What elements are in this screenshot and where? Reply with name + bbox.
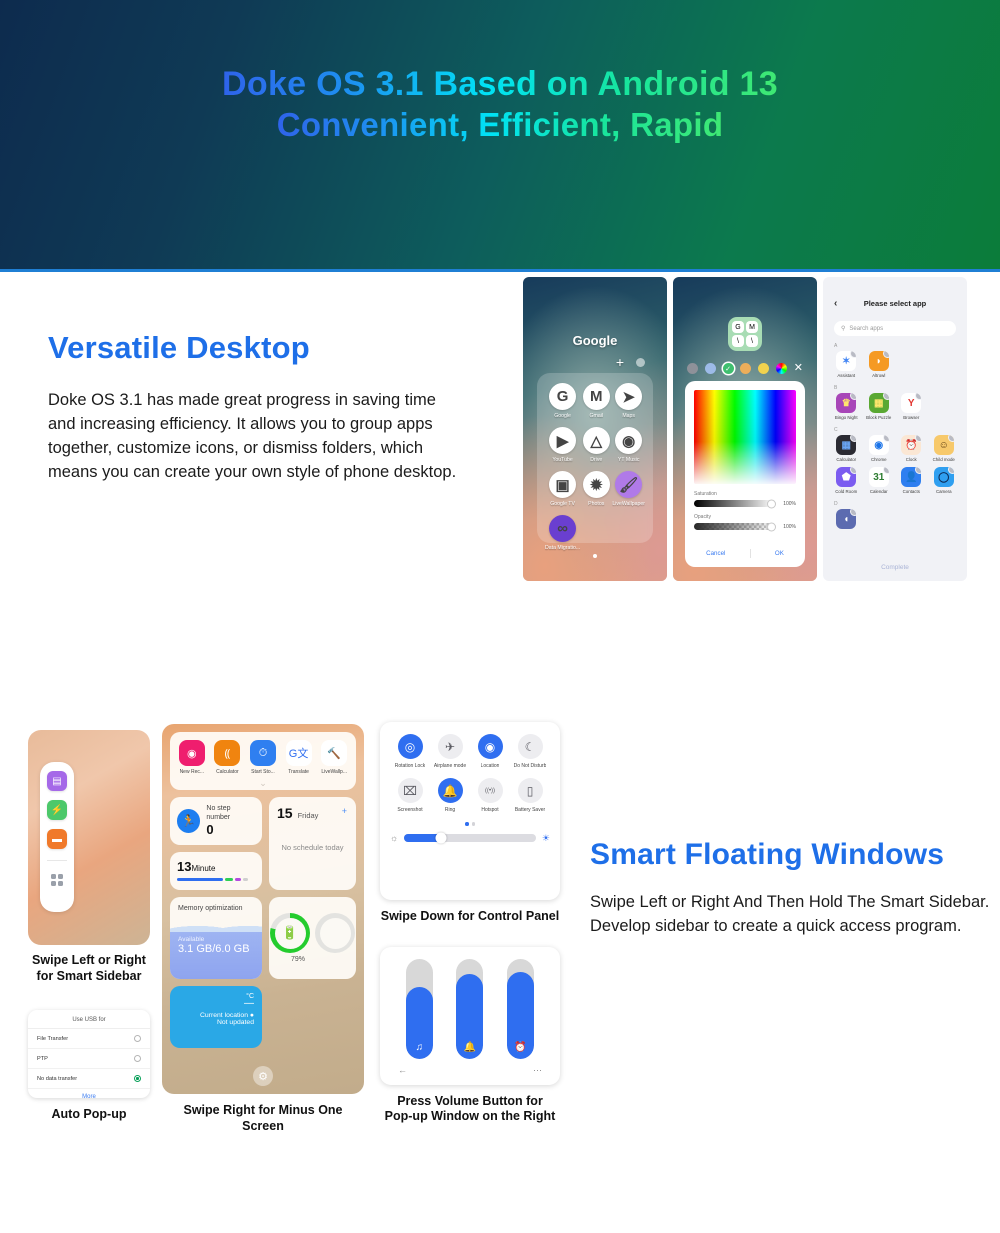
app-icon: 🖌 <box>615 471 642 498</box>
shortcut-icon: G文 <box>286 740 312 766</box>
folder-app[interactable]: GGoogle <box>545 383 580 419</box>
weather-unit: °C <box>178 993 254 1000</box>
folder-panel: GGoogleMGmail➤Maps▶YouTube△Drive◉YT Musi… <box>537 373 653 543</box>
hero-title-line2: Convenient, Efficient, Rapid <box>277 105 724 145</box>
toggle-icon: ◉ <box>478 734 503 759</box>
volume-icon: ♫ <box>416 1042 424 1053</box>
chevron-left-icon[interactable]: ‹ <box>834 298 837 309</box>
app-label: Block Puzzle <box>866 415 891 420</box>
folder-app[interactable]: ➤Maps <box>612 383 645 419</box>
app-label: Browser <box>903 415 919 420</box>
calendar-day: 15 <box>277 805 293 821</box>
section-body-versatile-desktop: Doke OS 3.1 has made great progress in s… <box>48 388 468 484</box>
toggle-label: Screenshot <box>397 807 422 813</box>
battery-ring: 🔋 <box>270 913 310 953</box>
app-icon: ◯ <box>934 467 954 487</box>
app-icon: 👤 <box>901 467 921 487</box>
app-label: Clock <box>906 457 917 462</box>
battery-column: 🔋 79% <box>269 897 356 979</box>
usb-caption: Auto Pop-up <box>28 1107 150 1123</box>
toggle-icon: ✈ <box>438 734 463 759</box>
brightness-high-icon: ☀ <box>542 833 550 844</box>
shortcut-label: Calculator <box>210 769 244 775</box>
toggle-icon: ⌧ <box>398 778 423 803</box>
quick-toggle[interactable]: ☾Do Not Disturb <box>510 734 550 769</box>
memory-value: 3.1 GB/6.0 GB <box>178 943 254 955</box>
folder-app[interactable]: ◉YT Music <box>612 427 645 463</box>
app-list: A✶Assistant◗AltrowlB♛Bingo Night▦Block P… <box>823 343 967 531</box>
color-swatch[interactable] <box>687 363 698 374</box>
volume-sliders: ♫🔔⏰ <box>394 959 546 1059</box>
selectable-app[interactable]: ⏰Clock <box>895 435 928 462</box>
volume-icon: ⏰ <box>514 1042 526 1053</box>
opacity-label: Opacity <box>694 514 796 520</box>
opacity-slider[interactable] <box>694 523 774 530</box>
shortcut-item[interactable]: 🔨LiveWallp... <box>317 740 351 775</box>
folder-app[interactable]: MGmail <box>580 383 612 419</box>
shortcut-item[interactable]: ◉New Rec... <box>175 740 209 775</box>
quick-toggle[interactable]: ✈Airplane mode <box>430 734 470 769</box>
arrow-left-icon[interactable]: ← <box>398 1065 407 1075</box>
divider <box>750 549 751 558</box>
app-icon: ▦ <box>836 435 856 455</box>
timer-widget[interactable]: 13Minute <box>170 852 262 890</box>
app-label: Cold Room <box>835 489 857 494</box>
section-letter: C <box>834 427 967 433</box>
usb-option[interactable]: No data transfer <box>28 1069 150 1089</box>
usb-options: File TransferPTPNo data transfer <box>28 1029 150 1089</box>
shortcut-label: Translate <box>282 769 316 775</box>
weather-temp: — <box>178 1000 254 1008</box>
quick-toggle[interactable]: ((•))Hotspot <box>470 778 510 813</box>
app-label: Calendar <box>870 489 888 494</box>
selectable-app[interactable]: ◉Chrome <box>863 435 896 462</box>
app-selector-header: ‹ Please select app <box>823 289 967 317</box>
folder-toolbar: + <box>616 355 645 369</box>
app-label: YouTube <box>552 457 572 463</box>
app-icon: 31 <box>869 467 889 487</box>
opacity-knob[interactable] <box>767 522 776 531</box>
section-title-smart-floating: Smart Floating Windows <box>590 838 990 872</box>
chevron-down-icon[interactable]: ⌄ <box>170 779 356 790</box>
app-label: Drive <box>590 457 602 463</box>
section-body-smart-floating: Swipe Left or Right And Then Hold The Sm… <box>590 890 990 938</box>
smart-floating-windows-section: ▤⚡▬ Swipe Left or Right for Smart Sideba… <box>0 712 1000 1162</box>
running-icon: 🏃 <box>177 809 200 833</box>
app-label: Calculator <box>836 457 856 462</box>
app-icon: ◖ <box>836 509 856 529</box>
app-icon: ◉ <box>869 435 889 455</box>
shortcut-item[interactable]: ⏱Start Sto... <box>246 740 280 775</box>
battery-widget[interactable]: 🔋 79% <box>269 897 356 979</box>
folder-app[interactable]: △Drive <box>580 427 612 463</box>
shortcut-label: Start Sto... <box>246 769 280 775</box>
app-icon: ▶ <box>549 427 576 454</box>
location-pin-icon: ● <box>250 1012 254 1019</box>
app-icon: ▣ <box>549 471 576 498</box>
shortcut-row: ◉New Rec...⸨Calculator⏱Start Sto...G文Tra… <box>170 732 356 779</box>
shortcut-icon: ⏱ <box>250 740 276 766</box>
shortcut-icon: ⸨ <box>214 740 240 766</box>
shortcut-icon: ◉ <box>179 740 205 766</box>
toggle-label: Location <box>481 763 500 769</box>
section-letter: B <box>834 385 967 391</box>
search-input[interactable]: ⚲ Search apps <box>834 321 956 336</box>
memory-title: Memory optimization <box>170 897 262 912</box>
toggle-label: Ring <box>445 807 455 813</box>
timer-unit: Minute <box>191 864 215 873</box>
app-icon: △ <box>583 427 610 454</box>
app-icon: ◉ <box>615 427 642 454</box>
shortcut-label: New Rec... <box>175 769 209 775</box>
radio-button[interactable] <box>134 1035 141 1042</box>
selectable-app[interactable]: 👤Contacts <box>895 467 928 494</box>
memory-available-label: Available <box>178 936 254 943</box>
app-label: Photos <box>588 501 604 507</box>
folder-app-grid: GGoogleMGmail➤Maps▶YouTube△Drive◉YT Musi… <box>545 383 645 551</box>
more-icon[interactable]: ⋯ <box>533 1065 542 1076</box>
selectable-app[interactable]: ✶Assistant <box>830 351 863 378</box>
app-icon: ▦ <box>869 393 889 413</box>
security-icon[interactable]: ⚡ <box>47 800 67 820</box>
minus-one-caption: Swipe Right for Minus One Screen <box>162 1103 364 1134</box>
search-icon: ⚲ <box>841 325 845 332</box>
quick-toggle[interactable]: ◎Rotation Lock <box>390 734 430 769</box>
app-label: Google <box>554 413 571 419</box>
memory-column: Memory optimization Available 3.1 GB/6.0… <box>170 897 262 979</box>
color-picker-actions: Cancel OK <box>694 542 796 558</box>
apps-grid-icon[interactable] <box>51 874 63 886</box>
color-swatch[interactable]: ✓ <box>723 363 734 374</box>
shortcut-item[interactable]: G文Translate <box>282 740 316 775</box>
toggle-icon: ☾ <box>518 734 543 759</box>
battery-icon: 🔋 <box>275 918 306 949</box>
section-letter: D <box>834 501 967 507</box>
brightness-slider-row[interactable]: ☼ ☀ <box>390 833 550 844</box>
media-volume[interactable]: ♫ <box>406 959 433 1059</box>
selectable-app[interactable]: ▦Calculator <box>830 435 863 462</box>
quick-toggle[interactable]: ⌧Screenshot <box>390 778 430 813</box>
ok-button[interactable]: OK <box>775 550 784 557</box>
app-icon: ✶ <box>836 351 856 371</box>
alarm-volume[interactable]: ⏰ <box>507 959 534 1059</box>
quick-toggle[interactable]: ▯Battery Saver <box>510 778 550 813</box>
toggle-icon: ◎ <box>398 734 423 759</box>
weather-status: Not updated <box>178 1019 254 1026</box>
quick-toggles: ◎Rotation Lock✈Airplane mode◉Location☾Do… <box>390 734 550 813</box>
app-label: Altrowl <box>872 373 885 378</box>
memory-widget[interactable]: Memory optimization Available 3.1 GB/6.0… <box>170 897 262 979</box>
phone-mockup-color-picker: GM\\ ✓✕ Saturation 100% Opacity 100% Can… <box>673 277 817 581</box>
volume-caption: Press Volume Button for Pop-up Window on… <box>380 1094 560 1125</box>
saturation-value-field[interactable] <box>694 390 796 484</box>
sidebar-caption: Swipe Left or Right for Smart Sidebar <box>28 953 150 984</box>
quick-toggle[interactable]: ◉Location <box>470 734 510 769</box>
selectable-app[interactable]: ◯Camera <box>928 467 961 494</box>
app-icon: ⏰ <box>901 435 921 455</box>
plus-icon[interactable]: + <box>342 806 347 816</box>
usb-dialog-title: Use USB for <box>28 1017 150 1029</box>
brightness-slider[interactable] <box>404 834 536 842</box>
usb-dialog: Use USB for File TransferPTPNo data tran… <box>28 1010 150 1098</box>
timer-value: 13 <box>177 859 191 874</box>
app-label: Google TV <box>550 501 575 507</box>
color-swatch[interactable] <box>705 363 716 374</box>
control-panel-card: ◎Rotation Lock✈Airplane mode◉Location☾Do… <box>380 722 560 1125</box>
folder-app[interactable]: 🖌LiveWallpaper <box>612 471 645 507</box>
battery-percent: 79% <box>291 956 305 963</box>
shortcuts-widget: ◉New Rec...⸨Calculator⏱Start Sto...G文Tra… <box>170 732 356 790</box>
phone-mockup-sidebar: ▤⚡▬ <box>28 730 150 945</box>
app-icon: ∞ <box>549 515 576 542</box>
app-label: Contacts <box>903 489 920 494</box>
app-label: Camera <box>936 489 952 494</box>
calendar-weekday: Friday <box>298 811 319 820</box>
hero-title-line1: Doke OS 3.1 Based on Android 13 <box>222 64 778 105</box>
divider <box>47 860 67 861</box>
selectable-app[interactable]: ◗Altrowl <box>863 351 896 378</box>
app-icon: Y <box>901 393 921 413</box>
app-icon: ◗ <box>869 351 889 371</box>
versatile-desktop-section: Versatile Desktop Doke OS 3.1 has made g… <box>0 272 1000 712</box>
app-group: ♛Bingo Night▦Block PuzzleYBrowser <box>823 393 967 420</box>
dot-icon[interactable] <box>636 358 645 367</box>
volume-fill: ♫ <box>406 987 433 1059</box>
app-group: ◖ <box>823 509 967 531</box>
app-group: ▦Calculator◉Chrome⏰Clock☺Child mode⬟Cold… <box>823 435 967 494</box>
step-counter-widget[interactable]: 🏃 No step number 0 <box>170 797 262 845</box>
folder-app[interactable]: ▣Google TV <box>545 471 580 507</box>
folder-name: Google <box>523 333 667 348</box>
toggle-icon: ((•)) <box>478 778 503 803</box>
plus-icon[interactable]: + <box>616 355 624 369</box>
radio-button[interactable] <box>134 1055 141 1062</box>
selectable-app[interactable]: ▦Block Puzzle <box>863 393 896 420</box>
notes-icon[interactable]: ▤ <box>47 771 67 791</box>
widget-column-left: 🏃 No step number 0 13Minute <box>170 797 262 890</box>
toggle-icon: 🔔 <box>438 778 463 803</box>
opacity-value: 100% <box>779 524 796 530</box>
weather-column: °C — Current location ● Not updated <box>170 986 262 1048</box>
volume-fill: ⏰ <box>507 972 534 1059</box>
app-icon: ➤ <box>615 383 642 410</box>
cancel-button[interactable]: Cancel <box>706 550 725 557</box>
app-label: Gmail <box>589 413 603 419</box>
usb-option-label: PTP <box>37 1056 48 1062</box>
selectable-app[interactable]: ☺Child mode <box>928 435 961 462</box>
usb-option[interactable]: File Transfer <box>28 1029 150 1049</box>
widget-column-right: 15 Friday + No schedule today <box>269 797 356 890</box>
app-label: Assistant <box>837 373 855 378</box>
app-selector-title: Please select app <box>864 299 927 308</box>
versatile-desktop-text: Versatile Desktop Doke OS 3.1 has made g… <box>48 330 468 484</box>
secondary-ring <box>315 913 355 953</box>
app-icon: ✹ <box>583 471 610 498</box>
app-icon: ♛ <box>836 393 856 413</box>
toggle-label: Airplane mode <box>434 763 466 769</box>
smart-floating-text: Smart Floating Windows Swipe Left or Rig… <box>590 838 990 938</box>
quick-toggle[interactable]: 🔔Ring <box>430 778 470 813</box>
volume-icon: 🔔 <box>464 1042 476 1053</box>
section-title-versatile-desktop: Versatile Desktop <box>48 330 468 366</box>
selectable-app[interactable]: 31Calendar <box>863 467 896 494</box>
files-icon[interactable]: ▬ <box>47 829 67 849</box>
toggle-label: Hotspot <box>481 807 498 813</box>
app-group: ✶Assistant◗Altrowl <box>823 351 967 378</box>
usb-option-label: No data transfer <box>37 1076 77 1082</box>
step-value: 0 <box>206 822 255 837</box>
phone-mockup-app-selector: ‹ Please select app ⚲ Search apps A✶Assi… <box>823 277 967 581</box>
selectable-app[interactable]: ⬟Cold Room <box>830 467 863 494</box>
radio-button[interactable] <box>134 1075 141 1082</box>
app-icon: ⬟ <box>836 467 856 487</box>
folder-app[interactable]: ✹Photos <box>580 471 612 507</box>
close-icon[interactable]: ✕ <box>794 363 803 374</box>
shortcut-label: LiveWallp... <box>317 769 351 775</box>
volume-panel-footer: ← ⋯ <box>394 1059 546 1076</box>
toggle-label: Do Not Disturb <box>514 763 547 769</box>
app-icon: ☺ <box>934 435 954 455</box>
app-icon: M <box>583 383 610 410</box>
calendar-widget[interactable]: 15 Friday + No schedule today <box>269 797 356 890</box>
desktop-screenshots: Google + GGoogleMGmail➤Maps▶YouTube△Driv… <box>523 277 967 581</box>
hero-banner: Doke OS 3.1 Based on Android 13 Convenie… <box>0 0 1000 272</box>
section-letter: A <box>834 343 967 349</box>
saturation-value: 100% <box>779 501 796 507</box>
color-swatch[interactable] <box>758 363 769 374</box>
usb-more-link[interactable]: More <box>28 1089 150 1100</box>
complete-button[interactable]: Complete <box>823 564 967 571</box>
saturation-knob[interactable] <box>767 499 776 508</box>
widget-row-2: Memory optimization Available 3.1 GB/6.0… <box>170 897 356 979</box>
gear-icon[interactable]: ⚙ <box>253 1066 273 1086</box>
timer-progress <box>177 878 255 881</box>
toggle-icon: ▯ <box>518 778 543 803</box>
app-label: Child mode <box>933 457 955 462</box>
smart-sidebar-panel[interactable]: ▤⚡▬ <box>40 762 74 912</box>
volume-panel: ♫🔔⏰ ← ⋯ <box>380 947 560 1085</box>
saturation-slider-row[interactable]: 100% <box>694 500 796 507</box>
selectable-app[interactable]: YBrowser <box>895 393 928 420</box>
search-placeholder: Search apps <box>849 326 883 332</box>
page-indicator <box>523 545 667 563</box>
toggle-label: Battery Saver <box>515 807 545 813</box>
color-swatch[interactable] <box>776 363 787 374</box>
page-dots <box>390 822 550 826</box>
color-swatches[interactable]: ✓✕ <box>687 363 803 374</box>
app-label: YT Music <box>618 457 640 463</box>
shortcut-item[interactable]: ⸨Calculator <box>210 740 244 775</box>
folder-preview-icon: GM\\ <box>728 317 762 351</box>
app-label: Chrome <box>871 457 887 462</box>
control-panel-caption: Swipe Down for Control Panel <box>380 909 560 925</box>
app-label: Bingo Night <box>835 415 858 420</box>
weather-location: Current location <box>200 1012 248 1019</box>
saturation-slider[interactable] <box>694 500 774 507</box>
phone-mockup-minus-one: ◉New Rec...⸨Calculator⏱Start Sto...G文Tra… <box>162 724 364 1094</box>
volume-fill: 🔔 <box>456 974 483 1059</box>
color-picker-dialog: Saturation 100% Opacity 100% Cancel OK <box>685 381 805 567</box>
control-panel: ◎Rotation Lock✈Airplane mode◉Location☾Do… <box>380 722 560 900</box>
phone-mockup-folder: Google + GGoogleMGmail➤Maps▶YouTube△Driv… <box>523 277 667 581</box>
ring-volume[interactable]: 🔔 <box>456 959 483 1059</box>
usb-option[interactable]: PTP <box>28 1049 150 1069</box>
folder-app[interactable]: ▶YouTube <box>545 427 580 463</box>
step-label: No step number <box>206 805 255 821</box>
widget-row: 🏃 No step number 0 13Minute <box>170 797 356 890</box>
brightness-low-icon: ☼ <box>390 833 398 843</box>
toggle-label: Rotation Lock <box>395 763 426 769</box>
brightness-knob[interactable] <box>436 833 447 844</box>
saturation-label: Saturation <box>694 491 796 497</box>
calendar-note: No schedule today <box>277 843 348 852</box>
weather-widget[interactable]: °C — Current location ● Not updated <box>170 986 262 1048</box>
widget-row-3: °C — Current location ● Not updated <box>170 986 356 1048</box>
app-label: LiveWallpaper <box>612 501 645 507</box>
sidebar-icons: ▤⚡▬ <box>47 771 67 849</box>
shortcut-icon: 🔨 <box>321 740 347 766</box>
color-swatch[interactable] <box>740 363 751 374</box>
opacity-slider-row[interactable]: 100% <box>694 523 796 530</box>
app-label: Maps <box>622 413 635 419</box>
app-icon: G <box>549 383 576 410</box>
selectable-app[interactable]: ♛Bingo Night <box>830 393 863 420</box>
usb-option-label: File Transfer <box>37 1036 68 1042</box>
minus-one-screen-card: ◉New Rec...⸨Calculator⏱Start Sto...G文Tra… <box>162 724 364 1134</box>
smart-sidebar-card: ▤⚡▬ Swipe Left or Right for Smart Sideba… <box>28 730 150 1123</box>
selectable-app[interactable]: ◖ <box>830 509 863 531</box>
